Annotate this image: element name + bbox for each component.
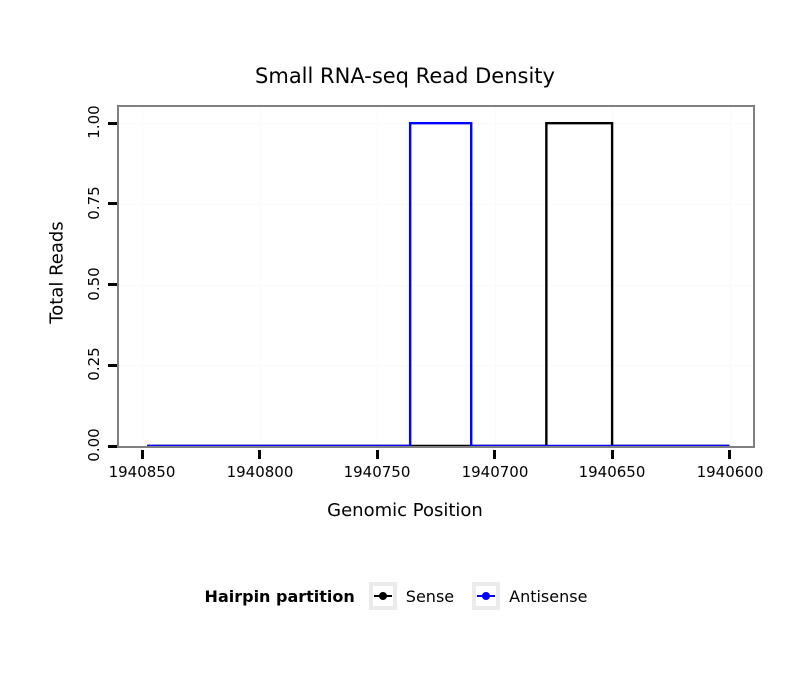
x-tick-label: 1940600 xyxy=(675,463,785,481)
y-tick-label: 1.00 xyxy=(85,92,103,152)
legend-label: Antisense xyxy=(509,587,587,606)
legend-key-dot xyxy=(379,592,387,600)
line-point-icon xyxy=(472,582,500,610)
legend-title: Hairpin partition xyxy=(205,587,355,606)
x-tick-mark xyxy=(728,450,731,459)
y-tick-mark xyxy=(108,202,117,205)
y-tick-mark xyxy=(108,122,117,125)
x-tick-label: 1940800 xyxy=(205,463,315,481)
x-tick-mark xyxy=(141,450,144,459)
x-tick-label: 1940850 xyxy=(87,463,197,481)
plot-panel xyxy=(117,105,755,448)
series-line-antisense xyxy=(147,123,729,446)
y-tick-mark xyxy=(108,364,117,367)
x-tick-mark xyxy=(376,450,379,459)
series-line-sense xyxy=(147,123,729,446)
x-tick-mark xyxy=(258,450,261,459)
y-tick-mark xyxy=(108,445,117,448)
series-layer xyxy=(119,107,753,446)
legend-item-sense[interactable]: Sense xyxy=(369,582,472,610)
x-tick-label: 1940650 xyxy=(557,463,667,481)
x-tick-mark xyxy=(611,450,614,459)
y-tick-mark xyxy=(108,283,117,286)
chart-legend: Hairpin partition SenseAntisense xyxy=(0,582,810,610)
y-tick-label: 0.75 xyxy=(85,173,103,233)
legend-key-dot xyxy=(482,592,490,600)
y-tick-label: 0.25 xyxy=(85,334,103,394)
y-tick-label: 0.50 xyxy=(85,254,103,314)
legend-item-antisense[interactable]: Antisense xyxy=(472,582,605,610)
x-tick-label: 1940700 xyxy=(440,463,550,481)
x-tick-label: 1940750 xyxy=(322,463,432,481)
x-axis-title: Genomic Position xyxy=(0,500,810,521)
chart-figure: Small RNA-seq Read Density Total Reads 0… xyxy=(0,0,810,690)
chart-title: Small RNA-seq Read Density xyxy=(0,64,810,88)
x-tick-mark xyxy=(493,450,496,459)
legend-label: Sense xyxy=(406,587,454,606)
line-point-icon xyxy=(369,582,397,610)
